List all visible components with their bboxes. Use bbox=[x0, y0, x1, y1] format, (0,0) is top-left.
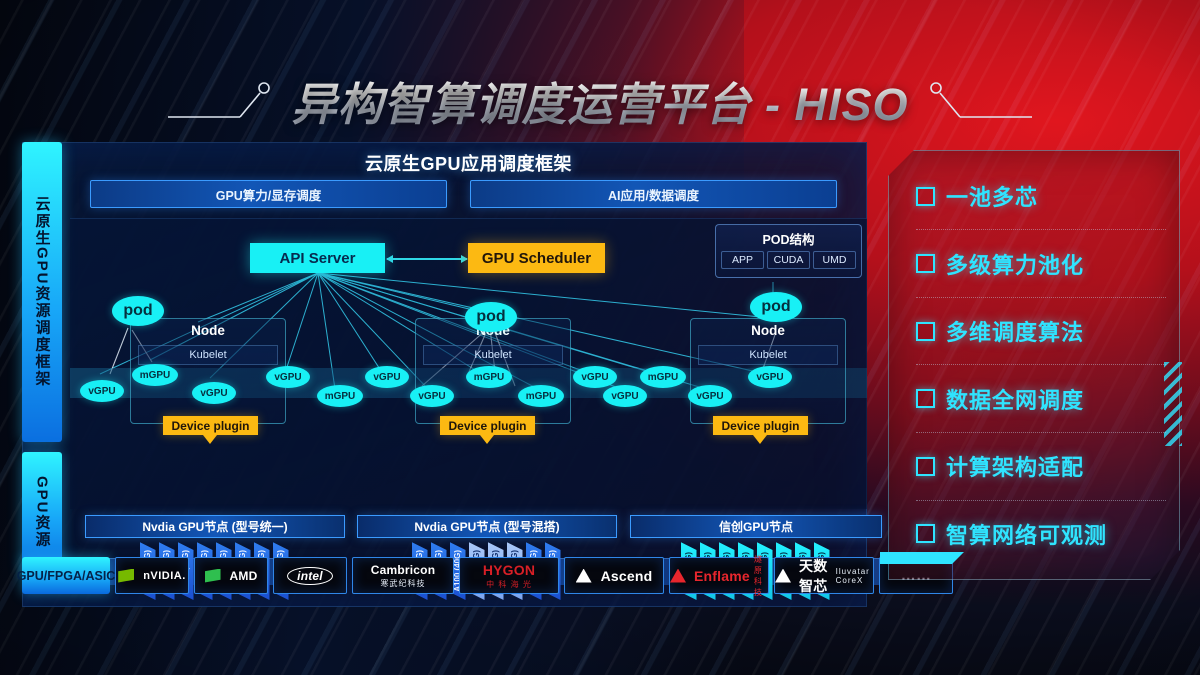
slide-root: 异构智算调度运营平台 - HISO 云原生GPU资源调度框架 GPU资源 云原生… bbox=[0, 0, 1200, 675]
gpu-group-header-3: 信创GPU节点 bbox=[630, 515, 882, 538]
bullet-square-icon bbox=[916, 254, 935, 273]
feature-panel: 一池多芯多级算力池化多维调度算法数据全网调度计算架构适配智算网络可观测 bbox=[888, 150, 1180, 580]
bullet-square-icon bbox=[916, 389, 935, 408]
feature-separator bbox=[916, 500, 1166, 501]
node-label: Node bbox=[131, 323, 285, 338]
feature-item[interactable]: 多级算力池化 bbox=[916, 244, 1166, 284]
feature-label: 多级算力池化 bbox=[946, 248, 1084, 280]
vendor-name: intel bbox=[287, 567, 333, 585]
vendor-logo-mark-icon: Cambricon寒武纪科技 bbox=[371, 563, 435, 589]
vgpu-pill[interactable]: vGPU bbox=[365, 366, 409, 388]
title-bar: 异构智算调度运营平台 - HISO bbox=[0, 60, 1200, 140]
vgpu-pill-free[interactable]: vGPU bbox=[266, 366, 310, 388]
vgpu-pill[interactable]: vGPU bbox=[410, 385, 454, 407]
vendor-subtitle: 寒武纪科技 bbox=[380, 578, 425, 589]
vgpu-pill[interactable]: vGPU bbox=[748, 366, 792, 388]
vendor-glyph-icon bbox=[775, 569, 791, 583]
vendor-logo-strip: GPU/FPGA/ASICnVIDIA.AMDintelCambricon寒武纪… bbox=[22, 557, 867, 594]
vendor-logo-mark-icon: AMD bbox=[205, 569, 258, 583]
vendor-logo-mark-icon: nVIDIA. bbox=[118, 569, 186, 583]
gpu-scheduler-box[interactable]: GPU Scheduler bbox=[468, 243, 605, 273]
gpu-group-header-1: Nvdia GPU节点 (型号统一) bbox=[85, 515, 345, 538]
vendor-subtitle: 中 科 海 光 bbox=[486, 579, 532, 590]
vgpu-pill[interactable]: vGPU bbox=[688, 385, 732, 407]
vendor-glyph-icon bbox=[670, 569, 686, 583]
mgpu-pill-free[interactable]: mGPU bbox=[317, 385, 363, 407]
feature-item[interactable]: 计算架构适配 bbox=[916, 446, 1166, 486]
vendor-logo-ascend[interactable]: Ascend bbox=[564, 557, 664, 594]
node-label: Node bbox=[691, 323, 845, 338]
feature-separator bbox=[916, 432, 1166, 433]
vendor-name: Ascend bbox=[601, 568, 653, 584]
pod-ellipse-1[interactable]: pod bbox=[112, 296, 164, 326]
feature-list: 一池多芯多级算力池化多维调度算法数据全网调度计算架构适配智算网络可观测 bbox=[916, 176, 1166, 554]
pod-cell-umd: UMD bbox=[813, 251, 856, 269]
kubelet-bar: Kubelet bbox=[423, 345, 563, 365]
vendor-glyph-icon bbox=[576, 569, 592, 583]
pod-structure-cells: APP CUDA UMD bbox=[716, 248, 861, 269]
vgpu-pill[interactable]: vGPU bbox=[192, 382, 236, 404]
device-plugin-1[interactable]: Device plugin bbox=[163, 416, 258, 435]
rail-label-gpu-resource: GPU资源 bbox=[22, 452, 62, 572]
pod-cell-app: APP bbox=[721, 251, 764, 269]
vendor-logo-mark-icon: Enflame燧原科技 bbox=[670, 554, 768, 598]
vendor-subtitle: 燧原科技 bbox=[754, 554, 768, 598]
vendor-name: 天数智芯 bbox=[799, 556, 832, 596]
vendor-logo-mark-icon: intel bbox=[287, 567, 333, 585]
vendor-logo-nvidia[interactable]: nVIDIA. bbox=[115, 557, 189, 594]
vendor-glyph-icon bbox=[205, 569, 221, 583]
vendor-glyph-icon bbox=[118, 569, 134, 583]
feature-panel-notch-icon bbox=[1164, 362, 1182, 446]
feature-label: 智算网络可观测 bbox=[946, 518, 1107, 550]
api-scheduler-arrow-icon bbox=[387, 258, 467, 260]
feature-label: 计算架构适配 bbox=[946, 450, 1084, 482]
pod-cell-cuda: CUDA bbox=[767, 251, 810, 269]
mgpu-pill[interactable]: mGPU bbox=[518, 385, 564, 407]
vendor-logo-mark-icon: 天数智芯Iluvatar CoreX bbox=[775, 556, 873, 596]
vendor-logo-enflame[interactable]: Enflame燧原科技 bbox=[669, 557, 769, 594]
feature-item[interactable]: 一池多芯 bbox=[916, 176, 1166, 216]
pod-ellipse-2[interactable]: pod bbox=[465, 302, 517, 332]
device-plugin-arrow-icon bbox=[480, 435, 494, 444]
feature-separator bbox=[916, 297, 1166, 298]
gpu-group-header-2: Nvdia GPU节点 (型号混搭) bbox=[357, 515, 617, 538]
vgpu-pill[interactable]: vGPU bbox=[80, 380, 124, 402]
section-title: 云原生GPU应用调度框架 bbox=[70, 150, 867, 176]
vendor-name: HYGON bbox=[483, 562, 535, 578]
kubelet-bar: Kubelet bbox=[698, 345, 838, 365]
topbar-ai-data-scheduling[interactable]: AI应用/数据调度 bbox=[470, 180, 837, 208]
vendor-name: nVIDIA. bbox=[143, 570, 186, 582]
bullet-square-icon bbox=[916, 524, 935, 543]
bullet-square-icon bbox=[916, 187, 935, 206]
architecture-inner: 云原生GPU应用调度框架 GPU算力/显存调度 AI应用/数据调度 bbox=[70, 142, 867, 607]
device-plugin-arrow-icon bbox=[753, 435, 767, 444]
vendor-logo-amd[interactable]: AMD bbox=[194, 557, 268, 594]
vendor-logo-hygon[interactable]: HYGON中 科 海 光 bbox=[459, 557, 559, 594]
vendor-logo-cambricon[interactable]: Cambricon寒武纪科技 bbox=[352, 557, 454, 594]
api-server-box[interactable]: API Server bbox=[250, 243, 385, 273]
mgpu-pill[interactable]: mGPU bbox=[466, 366, 512, 388]
device-plugin-2[interactable]: Device plugin bbox=[440, 416, 535, 435]
bullet-square-icon bbox=[916, 457, 935, 476]
vendor-name: Cambricon bbox=[371, 563, 435, 577]
feature-separator bbox=[916, 229, 1166, 230]
vendor-subtitle: Iluvatar CoreX bbox=[836, 567, 873, 585]
rail-label-framework: 云原生GPU资源调度框架 bbox=[22, 142, 62, 442]
vendor-name: AMD bbox=[230, 569, 258, 583]
vendor-category-label: GPU/FPGA/ASIC bbox=[22, 557, 110, 594]
vgpu-pill-free[interactable]: vGPU bbox=[603, 385, 647, 407]
device-plugin-3[interactable]: Device plugin bbox=[713, 416, 808, 435]
kubelet-bar: Kubelet bbox=[138, 345, 278, 365]
topbar-compute-scheduling[interactable]: GPU算力/显存调度 bbox=[90, 180, 447, 208]
feature-item[interactable]: 智算网络可观测 bbox=[916, 514, 1166, 554]
vendor-name: Enflame bbox=[694, 568, 750, 584]
pod-ellipse-3[interactable]: pod bbox=[750, 292, 802, 322]
pod-structure-title: POD结构 bbox=[716, 229, 861, 248]
vendor-logo-mark-icon: HYGON中 科 海 光 bbox=[483, 562, 535, 590]
bullet-square-icon bbox=[916, 322, 935, 341]
feature-item[interactable]: 数据全网调度 bbox=[916, 379, 1166, 419]
architecture-panel: 云原生GPU资源调度框架 GPU资源 云原生GPU应用调度框架 GPU算力/显存… bbox=[22, 142, 867, 607]
title-decor-right-icon bbox=[927, 77, 1032, 123]
device-plugin-arrow-icon bbox=[203, 435, 217, 444]
vendor-logo-mark-icon: Ascend bbox=[576, 568, 653, 584]
feature-label: 数据全网调度 bbox=[946, 383, 1084, 415]
feature-label: 多维调度算法 bbox=[946, 315, 1084, 347]
feature-label: 一池多芯 bbox=[946, 180, 1038, 212]
mgpu-pill[interactable]: mGPU bbox=[132, 364, 178, 386]
vgpu-pill[interactable]: vGPU bbox=[573, 366, 617, 388]
vendor-logo-[interactable]: 天数智芯Iluvatar CoreX bbox=[774, 557, 874, 594]
title-decor-left-icon bbox=[168, 77, 273, 123]
feature-item[interactable]: 多维调度算法 bbox=[916, 311, 1166, 351]
page-title: 异构智算调度运营平台 - HISO bbox=[291, 68, 908, 133]
mgpu-pill[interactable]: mGPU bbox=[640, 366, 686, 388]
feature-separator bbox=[916, 364, 1166, 365]
pod-structure-box: POD结构 APP CUDA UMD bbox=[715, 224, 862, 278]
vendor-logo-intel[interactable]: intel bbox=[273, 557, 347, 594]
